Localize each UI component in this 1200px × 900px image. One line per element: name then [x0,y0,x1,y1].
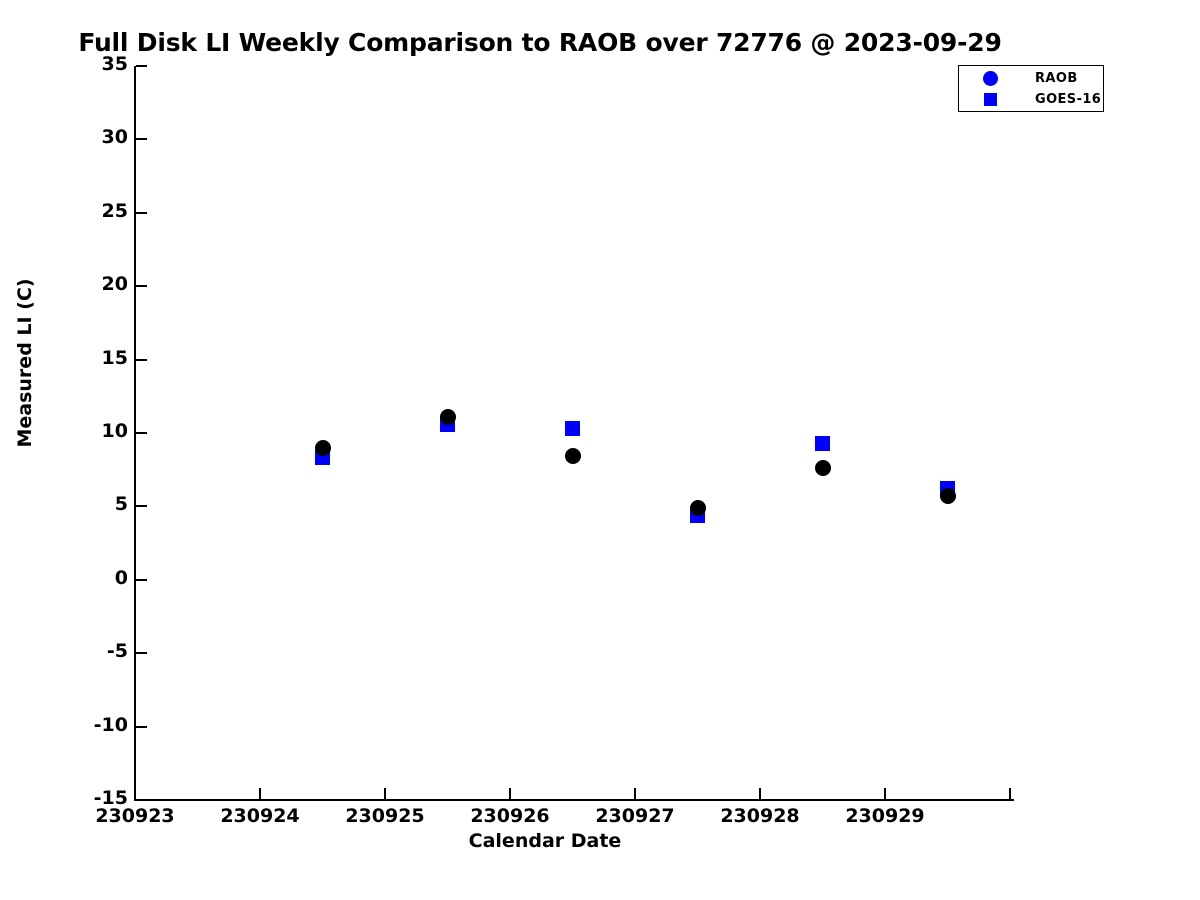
data-point-raob [815,460,831,476]
y-tick-label: 25 [68,200,128,222]
y-tick-label: 15 [68,347,128,369]
plot-area [135,66,955,800]
y-tick-label: 35 [68,53,128,75]
y-tick-label: -10 [68,714,128,736]
chart-title: Full Disk LI Weekly Comparison to RAOB o… [0,28,1080,57]
x-tick-mark [1009,788,1011,799]
data-point-raob [440,409,456,425]
y-tick-label: 10 [68,420,128,442]
filled-square-marker-icon [973,89,1007,110]
filled-circle-marker-icon-swatch [983,71,998,86]
data-point-raob [565,448,581,464]
filled-square-marker-icon-swatch [984,93,997,106]
y-tick-label: 20 [68,273,128,295]
x-axis-label: Calendar Date [135,830,955,852]
y-tick-label: 30 [68,126,128,148]
chart-legend: RAOBGOES-16 [958,65,1104,112]
data-point-raob [315,440,331,456]
data-point-raob [690,500,706,516]
filled-circle-marker-icon [973,68,1007,89]
y-tick-label: 5 [68,493,128,515]
legend-label: RAOB [1035,71,1078,86]
legend-entry-raob[interactable]: RAOB [959,68,1105,89]
data-point-goes-16 [565,421,580,436]
y-tick-label: 0 [68,567,128,589]
legend-label: GOES-16 [1035,92,1101,107]
data-point-goes-16 [815,436,830,451]
legend-entry-goes-16[interactable]: GOES-16 [959,89,1105,110]
x-tick-label: 230929 [805,805,965,827]
y-tick-label: -5 [68,640,128,662]
y-axis-label: Measured LI (C) [14,133,36,593]
chart-figure: Full Disk LI Weekly Comparison to RAOB o… [0,0,1200,900]
data-point-raob [940,488,956,504]
